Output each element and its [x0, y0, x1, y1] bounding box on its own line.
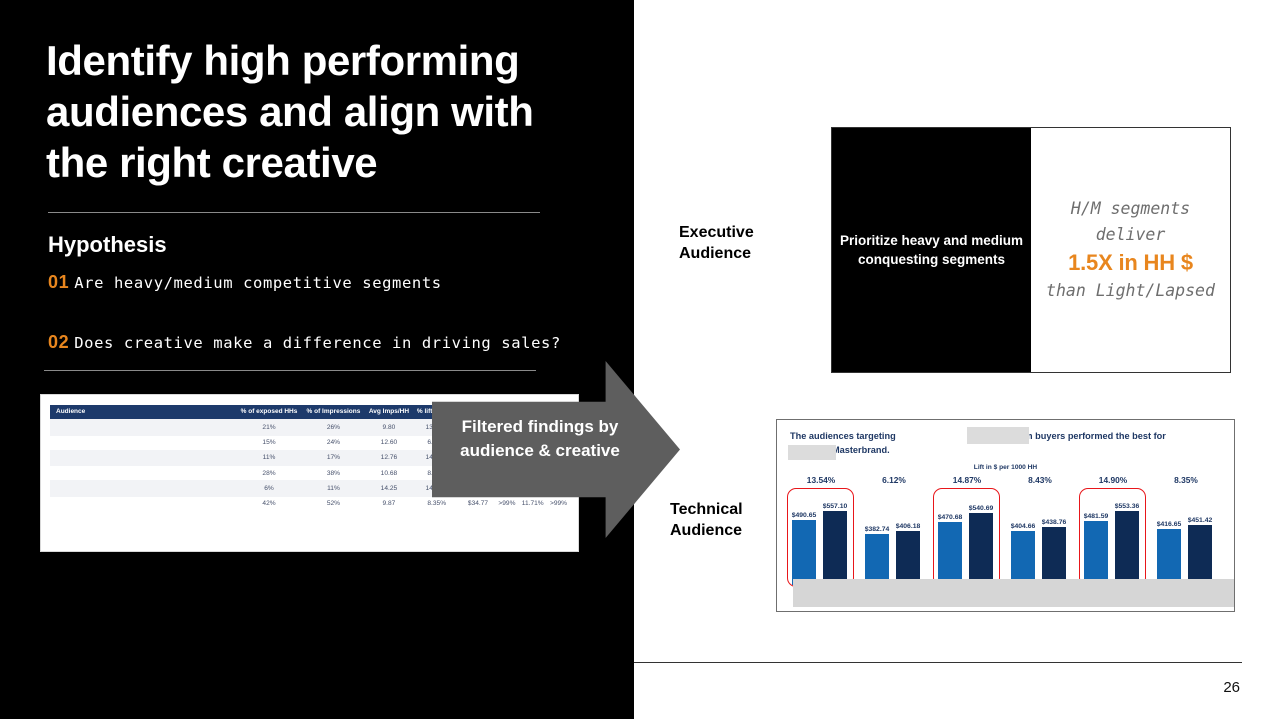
chart-bar: $557.10 — [823, 511, 847, 585]
chart-group: 14.87%$470.68$540.69 — [934, 475, 1000, 585]
redaction-block-axis-labels — [793, 579, 1235, 607]
col-audience: Audience — [50, 405, 236, 419]
redaction-block-headline-1 — [967, 427, 1029, 444]
technical-audience-label: Technical Audience — [670, 499, 790, 541]
chart-bar: $406.18 — [896, 531, 920, 585]
chart-bar-value-label: $553.36 — [1115, 503, 1140, 510]
divider-top — [48, 212, 540, 213]
cell-pct-impressions: 24% — [302, 436, 365, 450]
chart-subtitle: Lift in $ per 1000 HH — [777, 464, 1234, 471]
chart-bar-value-label: $406.18 — [896, 523, 921, 530]
redaction-block-headline-2 — [788, 445, 836, 460]
cell-audience — [50, 436, 236, 450]
chart-headline-part3: Masterbrand. — [832, 445, 890, 455]
chart-bar: $382.74 — [865, 534, 889, 585]
chart-plot-area: 13.54%$490.65$557.106.12%$382.74$406.181… — [788, 475, 1224, 585]
footer-divider — [634, 662, 1242, 663]
cell-avg-imps-hh: 9.80 — [365, 419, 413, 436]
chart-group: 8.35%$416.65$451.42 — [1153, 475, 1219, 585]
cell-audience — [50, 466, 236, 480]
filtered-findings-arrow: Filtered findings by audience & creative — [432, 361, 680, 538]
chart-bar-value-label: $470.68 — [938, 514, 963, 521]
cell-avg-imps-hh: 10.68 — [365, 466, 413, 480]
chart-bar: $404.66 — [1011, 531, 1035, 585]
chart-group-pct-label: 14.90% — [1080, 475, 1146, 485]
chart-bar: $540.69 — [969, 513, 993, 585]
hypothesis-item-2-number: 02 — [48, 332, 69, 352]
cell-avg-imps-hh: 12.60 — [365, 436, 413, 450]
executive-line-2: deliver — [1096, 222, 1166, 248]
arrow-label: Filtered findings by audience & creative — [440, 415, 640, 463]
cell-pct-impressions: 38% — [302, 466, 365, 480]
cell-audience — [50, 450, 236, 467]
chart-bar-value-label: $382.74 — [865, 526, 890, 533]
cell-pct-exposed-hhs: 42% — [236, 497, 302, 511]
chart-group-pct-label: 8.43% — [1007, 475, 1073, 485]
executive-line-1: H/M segments — [1071, 196, 1190, 222]
chart-bar: $490.65 — [792, 520, 816, 585]
chart-bar: $481.59 — [1084, 521, 1108, 585]
hypothesis-item-2: 02Does creative make a difference in dri… — [48, 332, 561, 353]
chart-bar-value-label: $557.10 — [823, 503, 848, 510]
executive-highlight-metric: 1.5X in HH $ — [1068, 248, 1193, 278]
col-avg-imps-hh: Avg Imps/HH — [365, 405, 413, 419]
chart-group: 6.12%$382.74$406.18 — [861, 475, 927, 585]
chart-group-pct-label: 13.54% — [788, 475, 854, 485]
chart-bar: $470.68 — [938, 522, 962, 585]
chart-bar: $438.76 — [1042, 527, 1066, 586]
chart-bar: $416.65 — [1157, 529, 1181, 585]
chart-bar-value-label: $540.69 — [969, 505, 994, 512]
executive-line-3: than Light/Lapsed — [1046, 278, 1215, 304]
hypothesis-item-2-text: Does creative make a difference in drivi… — [74, 334, 561, 352]
cell-avg-imps-hh: 14.25 — [365, 480, 413, 497]
chart-bar-value-label: $438.76 — [1042, 519, 1067, 526]
cell-audience — [50, 419, 236, 436]
chart-group: 14.90%$481.59$553.36 — [1080, 475, 1146, 585]
cell-avg-imps-hh: 12.76 — [365, 450, 413, 467]
hypothesis-item-1-number: 01 — [48, 272, 69, 292]
cell-pct-exposed-hhs: 11% — [236, 450, 302, 467]
technical-audience-chart-card: The audiences targeting Heavy/Medium buy… — [776, 419, 1235, 612]
executive-card-right: H/M segments deliver 1.5X in HH $ than L… — [1031, 128, 1230, 372]
page-number: 26 — [1223, 679, 1240, 696]
chart-bar: $451.42 — [1188, 525, 1212, 585]
chart-group: 8.43%$404.66$438.76 — [1007, 475, 1073, 585]
chart-group-pct-label: 14.87% — [934, 475, 1000, 485]
hypothesis-heading: Hypothesis — [48, 232, 167, 258]
cell-pct-impressions: 17% — [302, 450, 365, 467]
chart-group-pct-label: 8.35% — [1153, 475, 1219, 485]
slide-canvas: Identify high performing audiences and a… — [0, 0, 1280, 719]
chart-group: 13.54%$490.65$557.10 — [788, 475, 854, 585]
col-pct-exposed-hhs: % of exposed HHs — [236, 405, 302, 419]
chart-bar: $553.36 — [1115, 511, 1139, 585]
chart-bar-value-label: $490.65 — [792, 512, 817, 519]
col-pct-impressions: % of Impressions — [302, 405, 365, 419]
hypothesis-item-1: 01Are heavy/medium competitive segments — [48, 272, 442, 293]
chart-bar-value-label: $404.66 — [1011, 523, 1036, 530]
executive-left-text: Prioritize heavy and medium conquesting … — [832, 231, 1031, 269]
cell-pct-impressions: 11% — [302, 480, 365, 497]
cell-pct-exposed-hhs: 21% — [236, 419, 302, 436]
page-title: Identify high performing audiences and a… — [46, 35, 566, 188]
executive-card-left: Prioritize heavy and medium conquesting … — [832, 128, 1031, 372]
chart-bar-value-label: $451.42 — [1188, 517, 1213, 524]
chart-bar-value-label: $481.59 — [1084, 513, 1109, 520]
hypothesis-item-1-text: Are heavy/medium competitive segments — [74, 274, 441, 292]
cell-pct-exposed-hhs: 28% — [236, 466, 302, 480]
cell-pct-exposed-hhs: 6% — [236, 480, 302, 497]
chart-bar-value-label: $416.65 — [1157, 521, 1182, 528]
cell-pct-impressions: 26% — [302, 419, 365, 436]
cell-pct-exposed-hhs: 15% — [236, 436, 302, 450]
cell-pct-impressions: 52% — [302, 497, 365, 511]
executive-audience-card: Prioritize heavy and medium conquesting … — [831, 127, 1231, 373]
chart-group-pct-label: 6.12% — [861, 475, 927, 485]
chart-headline-part1: The audiences targeting — [790, 431, 896, 441]
cell-audience — [50, 497, 236, 511]
cell-avg-imps-hh: 9.87 — [365, 497, 413, 511]
cell-audience — [50, 480, 236, 497]
executive-audience-label: Executive Audience — [679, 222, 789, 264]
